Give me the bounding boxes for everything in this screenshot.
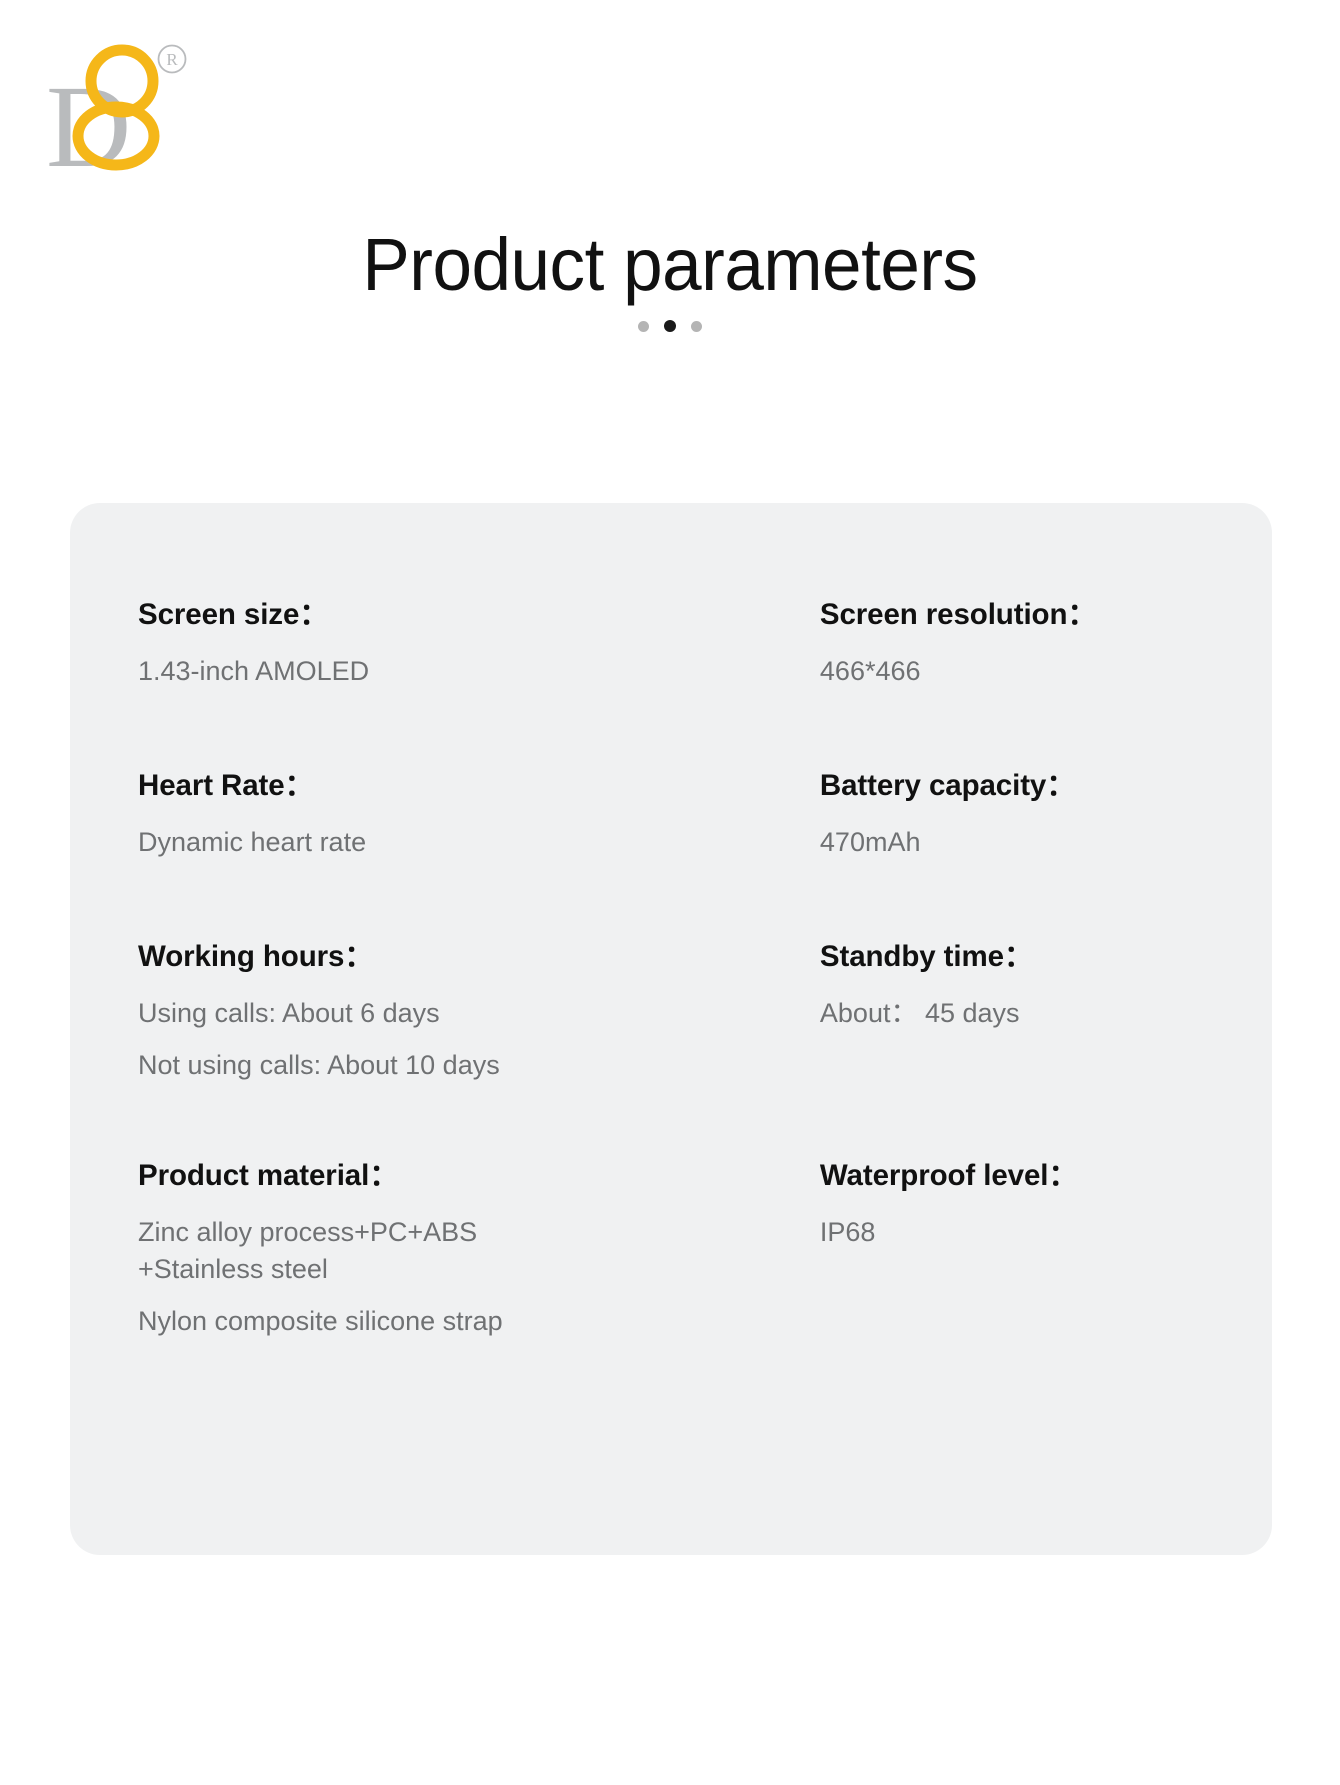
spec-item-screen-resolution: Screen resolution： 466*466: [820, 597, 1232, 690]
page-title: Product parameters: [27, 228, 1313, 302]
spec-item-standby-time: Standby time： About： 45 days: [820, 939, 1232, 1084]
spec-value: Not using calls: About 10 days: [138, 1047, 820, 1083]
spec-row: Working hours： Using calls: About 6 days…: [138, 939, 1232, 1084]
spec-value: 470mAh: [820, 824, 1232, 860]
spec-value: Zinc alloy process+PC+ABS +Stainless ste…: [138, 1214, 820, 1287]
spec-item-screen-size: Screen size： 1.43-inch AMOLED: [138, 597, 820, 690]
spec-label: Battery capacity：: [820, 768, 1232, 803]
spec-item-product-material: Product material： Zinc alloy process+PC+…: [138, 1158, 820, 1340]
spec-row: Heart Rate： Dynamic heart rate Battery c…: [138, 768, 1232, 861]
spec-item-working-hours: Working hours： Using calls: About 6 days…: [138, 939, 820, 1084]
spec-value: IP68: [820, 1214, 1232, 1250]
spec-value: Nylon composite silicone strap: [138, 1303, 820, 1339]
svg-text:R: R: [166, 50, 178, 69]
spec-item-battery-capacity: Battery capacity： 470mAh: [820, 768, 1232, 861]
d8-logo-icon: D R: [44, 40, 244, 180]
section-divider-dots: [0, 320, 1340, 332]
divider-dot-3: [691, 321, 702, 332]
registered-trademark-icon: R: [159, 46, 186, 73]
spec-label: Screen size：: [138, 597, 820, 632]
spec-item-waterproof-level: Waterproof level： IP68: [820, 1158, 1232, 1340]
spec-value: About： 45 days: [820, 995, 1232, 1031]
divider-dot-2: [664, 320, 676, 332]
spec-value: Using calls: About 6 days: [138, 995, 820, 1031]
spec-label: Screen resolution：: [820, 597, 1232, 632]
divider-dot-1: [638, 321, 649, 332]
product-parameters-card: Screen size： 1.43-inch AMOLED Screen res…: [70, 503, 1272, 1555]
spec-value: 1.43-inch AMOLED: [138, 653, 820, 689]
spec-grid: Screen size： 1.43-inch AMOLED Screen res…: [138, 597, 1232, 1340]
spec-label: Working hours：: [138, 939, 820, 974]
spec-label: Product material：: [138, 1158, 820, 1193]
spec-row: Product material： Zinc alloy process+PC+…: [138, 1158, 1232, 1340]
spec-row: Screen size： 1.43-inch AMOLED Screen res…: [138, 597, 1232, 690]
spec-value: Dynamic heart rate: [138, 824, 820, 860]
spec-label: Heart Rate：: [138, 768, 820, 803]
spec-label: Waterproof level：: [820, 1158, 1232, 1193]
spec-label: Standby time：: [820, 939, 1232, 974]
spec-value: 466*466: [820, 653, 1232, 689]
spec-item-heart-rate: Heart Rate： Dynamic heart rate: [138, 768, 820, 861]
brand-logo: D R: [44, 40, 244, 180]
